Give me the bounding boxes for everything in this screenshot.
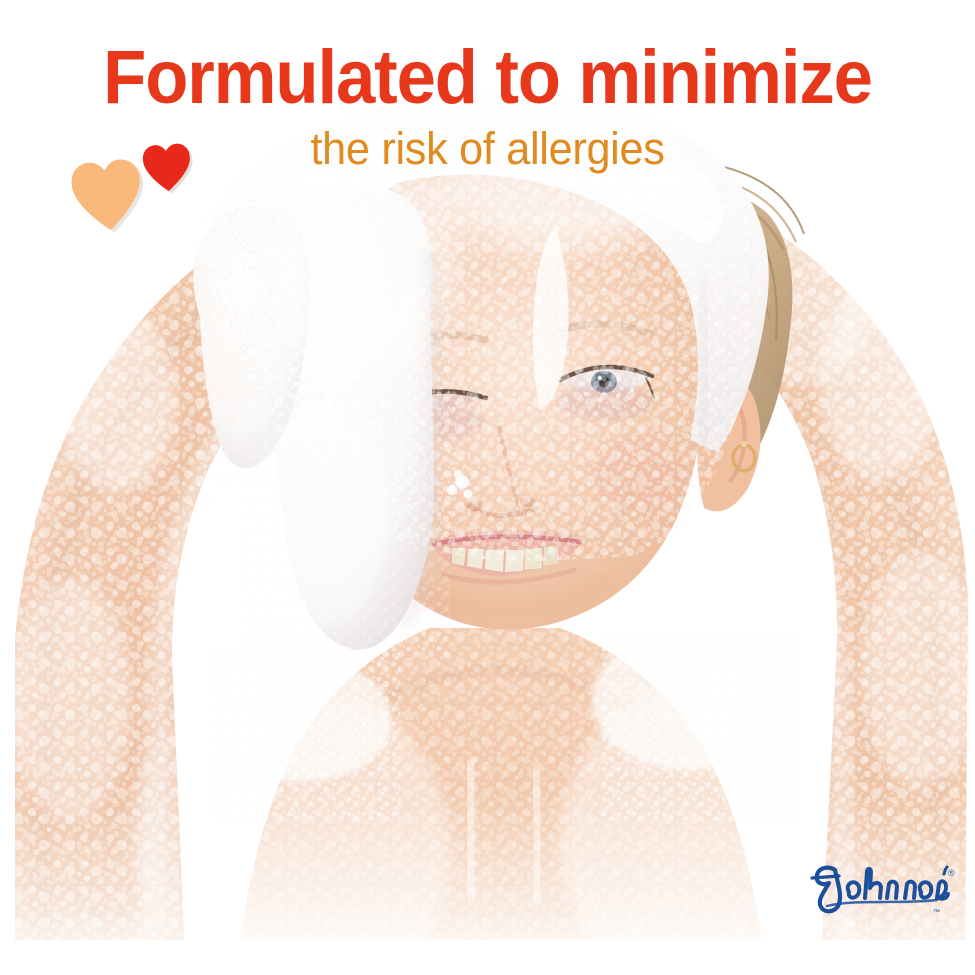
subheadline-text: the risk of allergies [20,124,956,174]
registered-mark: ® [948,868,955,878]
trademark-mark: ™ [933,909,940,916]
johnsons-wordmark: ® ™ [805,862,955,920]
advertisement-canvas: Toddler with soap foam on head and arms,… [0,0,975,975]
johnsons-logo[interactable]: ® ™ [805,862,955,920]
headline-text: Formulated to minimize [34,38,941,118]
bottom-white-band [0,940,975,975]
